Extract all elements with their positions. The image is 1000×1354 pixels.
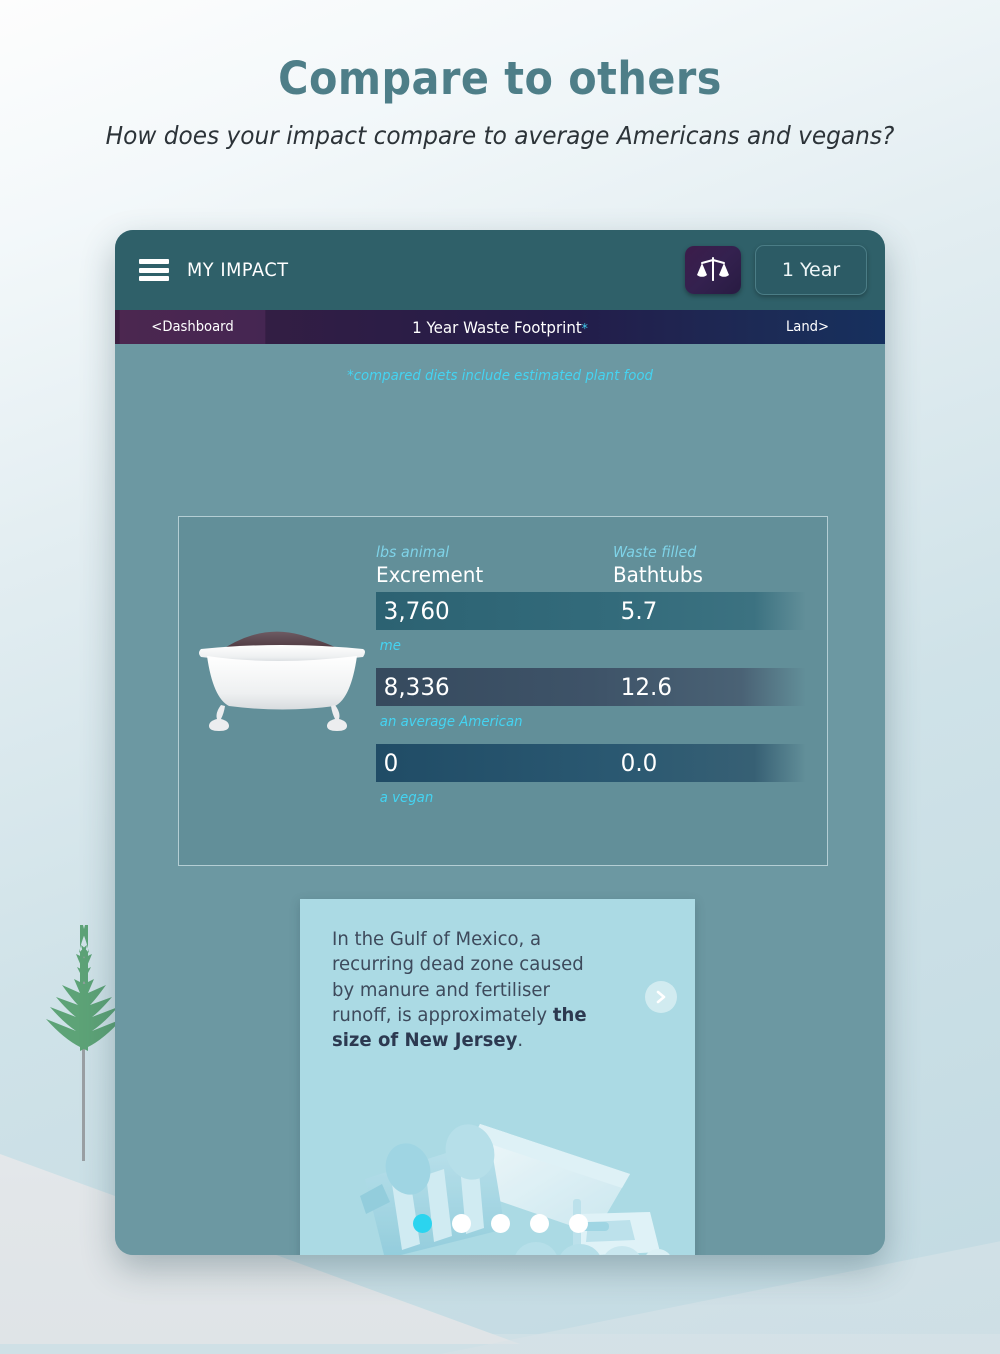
balance-scales-icon [696,255,730,285]
value-bathtubs-average-american: 12.6 [613,673,841,701]
pager-dot-2[interactable] [452,1214,471,1233]
section-title-text: 1 Year Waste Footprint [412,318,582,337]
hamburger-menu-icon[interactable] [139,259,169,281]
comparison-panel: lbs animal Excrement Waste filled Bathtu… [178,516,828,866]
table-row: 0 0.0 a vegan [376,744,885,806]
fact-card[interactable]: In the Gulf of Mexico, a recurring dead … [300,899,695,1255]
comparison-table: lbs animal Excrement Waste filled Bathtu… [376,543,885,820]
table-row: 3,760 5.7 me [376,592,885,654]
fact-card-next-button[interactable] [645,981,677,1013]
carousel-pagination [115,1214,885,1233]
column-header-bathtubs: Waste filled Bathtubs [613,543,850,587]
table-row: 8,336 12.6 an average American [376,668,885,730]
pager-dot-1[interactable] [413,1214,432,1233]
chevron-right-icon [654,989,668,1005]
bathtub-with-manure-icon [189,627,374,732]
nav-prev-dashboard[interactable]: <Dashboard [120,310,266,344]
page-subtitle: How does your impact compare to average … [35,121,965,150]
app-title: MY IMPACT [187,259,289,281]
column-unit-excrement: lbs animal [376,543,601,561]
value-bathtubs-vegan: 0.0 [613,749,841,777]
section-title: 1 Year Waste Footprint* [284,318,716,337]
fact-card-text: In the Gulf of Mexico, a recurring dead … [332,927,603,1053]
period-selector-button[interactable]: 1 Year [755,245,867,295]
row-label-average-american: an average American [376,714,885,730]
column-unit-bathtubs: Waste filled [613,543,838,561]
nav-next-land[interactable]: Land> [735,319,881,335]
column-name-bathtubs: Bathtubs [613,563,838,587]
bar-row-me: 3,760 5.7 [376,592,885,630]
page-title: Compare to others [40,52,960,105]
column-header-excrement: lbs animal Excrement [376,543,613,587]
table-header-row: lbs animal Excrement Waste filled Bathtu… [376,543,885,587]
column-name-excrement: Excrement [376,563,601,587]
value-bathtubs-me: 5.7 [613,597,841,625]
fact-text-part2: . [517,1029,523,1051]
value-excrement-me: 3,760 [376,597,604,625]
value-excrement-vegan: 0 [376,749,604,777]
section-navigation-ribbon: <Dashboard 1 Year Waste Footprint* Land> [115,310,885,344]
period-label: 1 Year [782,259,840,281]
section-title-star: * [582,322,588,337]
compare-scales-button[interactable] [685,246,741,294]
app-bar: MY IMPACT 1 Year [115,230,885,310]
value-excrement-average-american: 8,336 [376,673,604,701]
tablet-device-frame: MY IMPACT 1 Year <Dashboard 1 Year Waste… [115,230,885,1255]
bar-row-vegan: 0 0.0 [376,744,885,782]
fact-text-part1: In the Gulf of Mexico, a recurring dead … [332,928,584,1026]
row-label-me: me [376,638,885,654]
page-header: Compare to others How does your impact c… [0,52,1000,150]
row-label-vegan: a vegan [376,790,885,806]
bar-row-average-american: 8,336 12.6 [376,668,885,706]
pager-dot-3[interactable] [491,1214,510,1233]
pager-dot-4[interactable] [530,1214,549,1233]
footnote-text: *compared diets include estimated plant … [134,344,866,384]
app-screen-body: *compared diets include estimated plant … [115,344,885,1255]
pager-dot-5[interactable] [569,1214,588,1233]
